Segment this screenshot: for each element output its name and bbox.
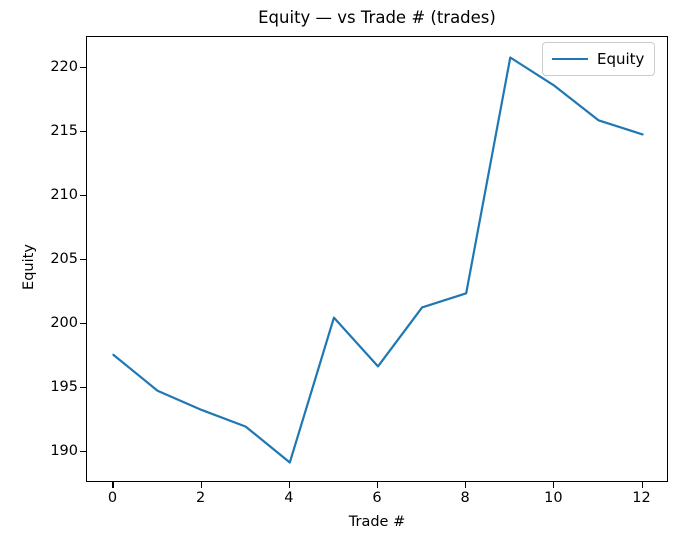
chart-figure: Equity — vs Trade # (trades) 19019520020…	[0, 0, 687, 546]
y-axis-tick-labels: 190195200205210215220	[0, 0, 78, 546]
y-tick-label: 190	[50, 443, 78, 459]
y-tick-label: 210	[50, 187, 78, 203]
legend-line-swatch-equity	[552, 58, 588, 60]
y-tick-label: 195	[50, 379, 78, 395]
y-tick-label: 220	[50, 59, 78, 75]
x-tick-label: 0	[108, 490, 117, 506]
x-tick-label: 6	[372, 490, 381, 506]
equity-line-series	[87, 37, 669, 483]
y-tick-label: 215	[50, 123, 78, 139]
plot-area	[86, 36, 668, 482]
chart-title: Equity — vs Trade # (trades)	[86, 8, 668, 27]
x-tick-label: 4	[284, 490, 293, 506]
y-tick-label: 205	[50, 251, 78, 267]
y-axis-label: Equity	[21, 217, 37, 317]
x-axis-label: Trade #	[86, 514, 668, 530]
x-axis-tick-labels: 024681012	[0, 490, 687, 514]
x-tick-label: 8	[461, 490, 470, 506]
x-tick-label: 12	[632, 490, 650, 506]
y-tick-label: 200	[50, 315, 78, 331]
x-tick-label: 2	[196, 490, 205, 506]
chart-legend: Equity	[542, 42, 655, 76]
x-tick-label: 10	[544, 490, 562, 506]
legend-label-equity: Equity	[597, 50, 644, 68]
equity-polyline	[113, 58, 642, 463]
